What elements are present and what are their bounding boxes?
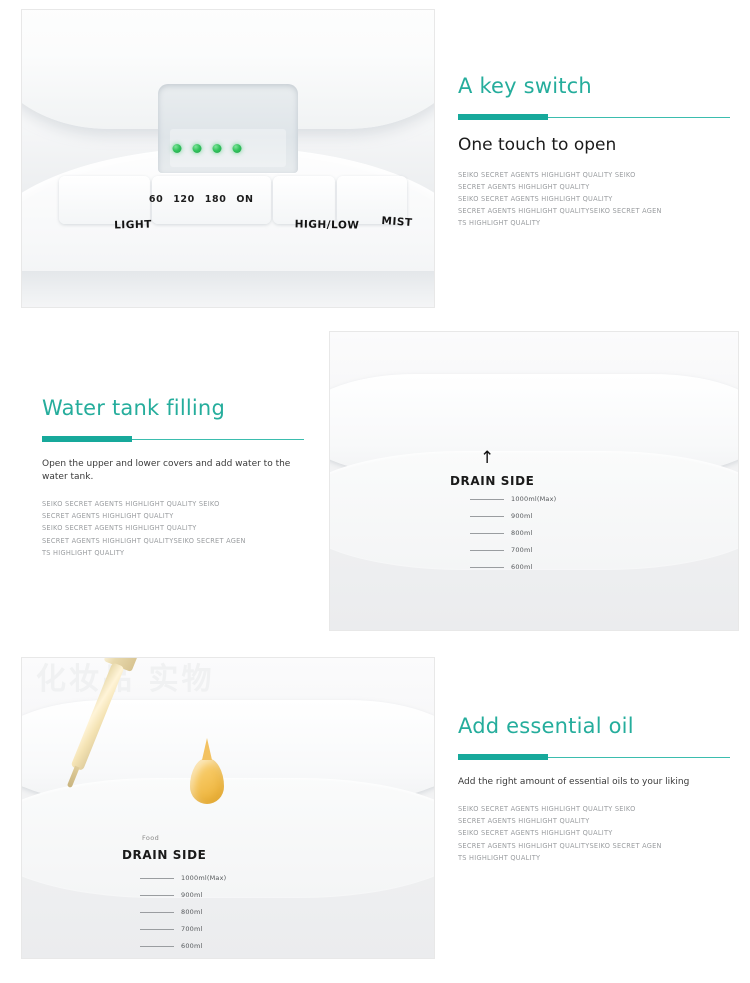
tick-line <box>140 912 174 913</box>
section-body-text: SEIKO SECRET AGENTS HIGHLIGHT QUALITY SE… <box>458 803 730 864</box>
led-indicator-2 <box>193 144 202 153</box>
section-body-text: SEIKO SECRET AGENTS HIGHLIGHT QUALITY SE… <box>458 169 730 230</box>
tick-line <box>470 499 504 500</box>
body-line-5: TS HIGHLIGHT QUALITY <box>458 852 730 864</box>
level-label: 600ml <box>181 942 203 950</box>
water-level-scale: 1000ml(Max) 900ml 800ml 700ml 600ml <box>140 874 226 958</box>
panel-ridge-right <box>273 176 335 224</box>
led-indicator-1 <box>173 144 182 153</box>
body-line-4: SECRET AGENTS HIGHLIGHT QUALITYSEIKO SEC… <box>458 205 730 217</box>
body-line-2: SECRET AGENTS HIGHLIGHT QUALITY <box>458 815 730 827</box>
level-label: 700ml <box>511 546 533 554</box>
level-tick: 700ml <box>140 925 226 933</box>
drain-arrow-icon: ↑ <box>480 450 494 467</box>
section-subhead: Add the right amount of essential oils t… <box>458 776 730 789</box>
section-body-text: SEIKO SECRET AGENTS HIGHLIGHT QUALITY SE… <box>42 498 306 559</box>
body-line-2: SECRET AGENTS HIGHLIGHT QUALITY <box>458 181 730 193</box>
level-tick: 900ml <box>140 891 226 899</box>
level-tick: 700ml <box>470 546 556 554</box>
drain-side-label: DRAIN SIDE <box>122 848 206 862</box>
timer-option-60: 60 <box>149 194 163 205</box>
product-detail-page: 60 120 180 ON LIGHT HIGH/LOW MIST A key … <box>0 0 750 983</box>
divider-thick-line <box>458 114 548 120</box>
section-subhead: Open the upper and lower covers and add … <box>42 458 306 484</box>
button-label-light: LIGHT <box>114 219 152 232</box>
panel-ridge-left <box>59 176 150 224</box>
level-label: 800ml <box>181 908 203 916</box>
level-label: 1000ml(Max) <box>511 495 556 503</box>
section-add-essential-oil: Add essential oil Add the right amount o… <box>458 716 730 864</box>
body-line-1: SEIKO SECRET AGENTS HIGHLIGHT QUALITY SE… <box>458 803 730 815</box>
timer-scale-labels: 60 120 180 ON <box>146 194 257 205</box>
body-line-5: TS HIGHLIGHT QUALITY <box>458 217 730 229</box>
section-headline: A key switch <box>458 76 730 97</box>
divider-thick-line <box>42 436 132 442</box>
tick-line <box>140 946 174 947</box>
timer-option-180: 180 <box>205 194 227 205</box>
diffuser-base <box>22 271 434 307</box>
level-label: 600ml <box>511 563 533 571</box>
product-photo-control-panel: 60 120 180 ON LIGHT HIGH/LOW MIST <box>22 10 434 307</box>
level-label: 700ml <box>181 925 203 933</box>
body-line-4: SECRET AGENTS HIGHLIGHT QUALITYSEIKO SEC… <box>42 535 306 547</box>
tick-line <box>140 929 174 930</box>
level-tick: 600ml <box>470 563 556 571</box>
led-indicator-group <box>173 144 242 153</box>
product-photo-water-tank: ↑ DRAIN SIDE 1000ml(Max) 900ml 800ml 700… <box>330 332 738 630</box>
body-line-1: SEIKO SECRET AGENTS HIGHLIGHT QUALITY SE… <box>42 498 306 510</box>
section-divider <box>458 754 730 760</box>
tick-line <box>470 516 504 517</box>
dropper-tip <box>67 766 80 788</box>
level-tick: 800ml <box>470 529 556 537</box>
level-label: 900ml <box>511 512 533 520</box>
water-level-scale: 1000ml(Max) 900ml 800ml 700ml 600ml <box>470 495 556 580</box>
body-line-1: SEIKO SECRET AGENTS HIGHLIGHT QUALITY SE… <box>458 169 730 181</box>
drain-side-label: DRAIN SIDE <box>450 474 534 488</box>
level-tick: 800ml <box>140 908 226 916</box>
body-line-2: SECRET AGENTS HIGHLIGHT QUALITY <box>42 510 306 522</box>
body-line-3: SEIKO SECRET AGENTS HIGHLIGHT QUALITY <box>458 827 730 839</box>
food-label: Food <box>142 834 159 842</box>
level-label: 1000ml(Max) <box>181 874 226 882</box>
section-headline: Add essential oil <box>458 716 730 737</box>
section-divider <box>458 114 730 120</box>
level-label: 900ml <box>181 891 203 899</box>
tick-line <box>140 878 174 879</box>
button-label-high-low: HIGH/LOW <box>294 219 359 232</box>
timer-option-120: 120 <box>173 194 195 205</box>
section-a-key-switch: A key switch One touch to open SEIKO SEC… <box>458 76 730 230</box>
body-line-3: SEIKO SECRET AGENTS HIGHLIGHT QUALITY <box>42 522 306 534</box>
product-photo-essential-oil: 化妆品 实物 Food DRAIN SIDE 1000ml(Max) 900ml… <box>22 658 434 958</box>
tick-line <box>140 895 174 896</box>
level-label: 800ml <box>511 529 533 537</box>
body-line-5: TS HIGHLIGHT QUALITY <box>42 547 306 559</box>
level-tick: 1000ml(Max) <box>140 874 226 882</box>
divider-thick-line <box>458 754 548 760</box>
section-headline: Water tank filling <box>42 398 306 419</box>
tick-line <box>470 567 504 568</box>
led-indicator-3 <box>213 144 222 153</box>
section-divider <box>42 436 306 442</box>
body-line-4: SECRET AGENTS HIGHLIGHT QUALITYSEIKO SEC… <box>458 840 730 852</box>
tick-line <box>470 550 504 551</box>
tick-line <box>470 533 504 534</box>
led-indicator-4 <box>233 144 242 153</box>
level-tick: 600ml <box>140 942 226 950</box>
level-tick: 1000ml(Max) <box>470 495 556 503</box>
section-subhead: One touch to open <box>458 136 730 155</box>
level-tick: 900ml <box>470 512 556 520</box>
body-line-3: SEIKO SECRET AGENTS HIGHLIGHT QUALITY <box>458 193 730 205</box>
timer-option-on: ON <box>236 194 253 205</box>
section-water-tank-filling: Water tank filling Open the upper and lo… <box>42 398 306 559</box>
